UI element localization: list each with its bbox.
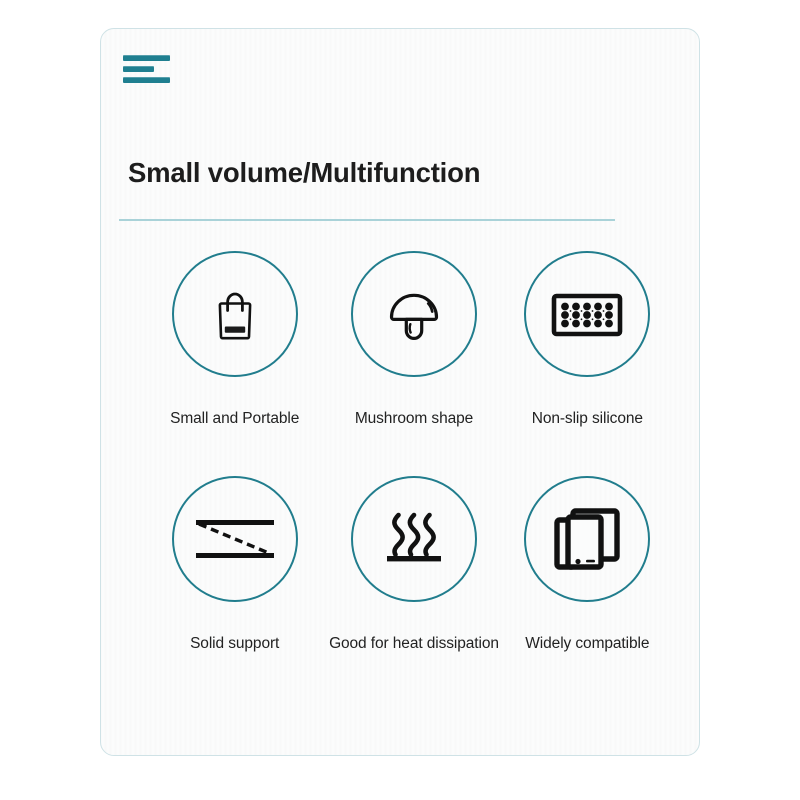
feature-item-mushroom-shape[interactable]: Mushroom shape xyxy=(320,251,507,428)
feature-icon-circle xyxy=(524,251,650,377)
hamburger-menu-button[interactable] xyxy=(123,54,179,88)
feature-icon-circle xyxy=(351,251,477,377)
hamburger-icon-bar-bottom xyxy=(123,77,170,83)
feature-label: Mushroom shape xyxy=(355,410,473,428)
feature-item-small-and-portable[interactable]: Small and Portable xyxy=(141,251,328,428)
heat-dissipation-icon xyxy=(381,507,447,571)
feature-label: Solid support xyxy=(190,635,279,653)
silicone-dot-pad-icon xyxy=(548,278,626,350)
feature-icon-circle xyxy=(172,251,298,377)
feature-icon-circle xyxy=(524,476,650,602)
feature-item-widely-compatible[interactable]: Widely compatible xyxy=(494,476,681,653)
solid-support-icon xyxy=(192,509,278,569)
feature-icon-circle xyxy=(351,476,477,602)
feature-card: Small volume/Multifunction Small and Por… xyxy=(100,28,700,756)
feature-label: Small and Portable xyxy=(170,410,299,428)
shopping-bag-icon xyxy=(199,278,271,350)
feature-grid: Small and Portable Mushroom shape xyxy=(101,251,699,653)
feature-label: Good for heat dissipation xyxy=(329,635,499,653)
page-title: Small volume/Multifunction xyxy=(128,157,668,189)
hamburger-icon-bar-top xyxy=(123,55,170,61)
feature-item-solid-support[interactable]: Solid support xyxy=(141,476,328,653)
feature-label: Non-slip silicone xyxy=(532,410,643,428)
feature-icon-circle xyxy=(172,476,298,602)
page-root: Small volume/Multifunction Small and Por… xyxy=(0,0,800,800)
hamburger-icon-bar-middle xyxy=(123,66,154,72)
feature-item-heat-dissipation[interactable]: Good for heat dissipation xyxy=(320,476,507,653)
title-divider xyxy=(119,219,615,221)
mushroom-icon xyxy=(378,278,450,350)
devices-compatible-icon xyxy=(550,503,624,575)
feature-label: Widely compatible xyxy=(525,635,649,653)
feature-item-non-slip-silicone[interactable]: Non-slip silicone xyxy=(494,251,681,428)
